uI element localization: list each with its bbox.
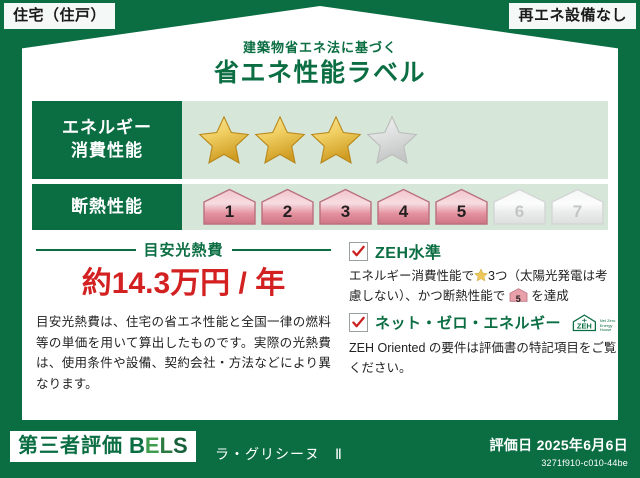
grade-badge-6: 6 xyxy=(492,188,547,226)
cost-heading-text: 目安光熱費 xyxy=(144,239,224,260)
grade-badge-value: 3 xyxy=(341,202,350,226)
footer-bar: 第三者評価 BELS ラ・グリシーヌ Ⅱ 評価日 2025年6月6日 3271f… xyxy=(0,420,640,478)
lower-section: 目安光熱費 約14.3万円 / 年 目安光熱費は、住宅の省エネ性能と全国一律の燃… xyxy=(32,235,608,381)
grade-badge-5: 5 xyxy=(434,188,489,226)
bels-letter-e: E xyxy=(145,433,160,458)
zeh-logo-icon: ZEH Net Zero Energy House xyxy=(571,311,620,335)
energy-performance-label: エネルギー 消費性能 xyxy=(32,101,182,179)
inline-grade-value: 5 xyxy=(516,294,521,304)
insulation-performance-value: 1234567 xyxy=(182,184,608,230)
cost-heading-rule-left xyxy=(36,249,136,251)
star-empty-icon xyxy=(366,114,418,166)
star-rating xyxy=(198,114,418,166)
zeh-netzero-body: ZEH Oriented の要件は評価書の特記項目をご覧ください。 xyxy=(349,338,620,379)
energy-performance-label-line2: 消費性能 xyxy=(62,140,152,163)
zeh-netzero-block: ネット・ゼロ・エネルギー ZEH Net Zero Energy House xyxy=(349,311,620,379)
bels-jp-text: 第三者評価 xyxy=(18,436,123,456)
bels-letter-l: L xyxy=(160,433,173,458)
tag-building-type: 住宅（住戸） xyxy=(4,3,115,29)
grade-badge-4: 4 xyxy=(376,188,431,226)
zeh-logo-subtext: Net Zero Energy House xyxy=(600,319,620,334)
zeh-netzero-title: ネット・ゼロ・エネルギー xyxy=(375,312,561,333)
grade-badge-3: 3 xyxy=(318,188,373,226)
bels-energy-label: 建築物省エネ法に基づく 省エネ性能ラベル 住宅（住戸） 再エネ設備なし エネルギ… xyxy=(0,0,640,478)
grade-scale: 1234567 xyxy=(198,188,605,226)
tag-renewable-equipment: 再エネ設備なし xyxy=(509,3,636,29)
zeh-standard-body-part1: エネルギー消費性能で xyxy=(349,269,474,283)
grade-badge-value: 4 xyxy=(399,202,408,226)
page-title: 省エネ性能ラベル xyxy=(22,58,618,89)
checkbox-checked-icon xyxy=(349,313,368,332)
bels-letter-b: B xyxy=(129,433,145,458)
bels-letter-s: S xyxy=(173,433,188,458)
grade-badge-value: 1 xyxy=(225,202,234,226)
bels-en-text: BELS xyxy=(129,435,188,457)
grade-badge-value: 6 xyxy=(515,202,524,226)
zeh-netzero-heading: ネット・ゼロ・エネルギー ZEH Net Zero Energy House xyxy=(349,311,620,335)
bels-logo: 第三者評価 BELS xyxy=(10,431,196,462)
inline-star-icon xyxy=(474,268,488,282)
cost-value: 約14.3万円 / 年 xyxy=(36,269,331,299)
energy-performance-value xyxy=(182,101,608,179)
zeh-standard-heading: ZEH水準 xyxy=(349,239,620,263)
grade-badge-7: 7 xyxy=(550,188,605,226)
star-filled-icon xyxy=(198,114,250,166)
zeh-standard-title: ZEH水準 xyxy=(375,239,442,263)
zeh-standard-body: エネルギー消費性能で3つ（太陽光発電は考慮しない）、かつ断熱性能で 5 を達成 xyxy=(349,266,620,307)
building-name: ラ・グリシーヌ Ⅱ xyxy=(215,444,343,464)
zeh-column: ZEH水準 エネルギー消費性能で3つ（太陽光発電は考慮しない）、かつ断熱性能で … xyxy=(337,235,622,381)
grade-badge-value: 5 xyxy=(457,202,466,226)
grade-badge-value: 7 xyxy=(573,202,582,226)
star-filled-icon xyxy=(254,114,306,166)
energy-performance-row: エネルギー 消費性能 xyxy=(32,101,608,179)
svg-text:ZEH: ZEH xyxy=(577,321,592,330)
header-subtitle: 建築物省エネ法に基づく xyxy=(22,40,618,56)
zeh-standard-body-part3: を達成 xyxy=(531,289,569,303)
cost-heading: 目安光熱費 xyxy=(36,239,331,260)
evaluation-date: 評価日 2025年6月6日 xyxy=(489,435,628,455)
grade-badge-1: 1 xyxy=(202,188,257,226)
energy-performance-label-line1: エネルギー xyxy=(62,117,152,140)
zeh-standard-block: ZEH水準 エネルギー消費性能で3つ（太陽光発電は考慮しない）、かつ断熱性能で … xyxy=(349,239,620,307)
cost-heading-rule-right xyxy=(232,249,332,251)
grade-badge-value: 2 xyxy=(283,202,292,226)
zeh-logo-subtext-line2: Energy House xyxy=(600,323,613,332)
star-filled-icon xyxy=(310,114,362,166)
evaluation-id: 3271f910-c010-44be xyxy=(489,458,628,468)
cost-column: 目安光熱費 約14.3万円 / 年 目安光熱費は、住宅の省エネ性能と全国一律の燃… xyxy=(32,235,337,381)
header-titles: 建築物省エネ法に基づく 省エネ性能ラベル xyxy=(22,40,618,89)
checkbox-checked-icon xyxy=(349,242,368,261)
inline-grade-badge: 5 xyxy=(509,288,528,302)
grade-badge-2: 2 xyxy=(260,188,315,226)
insulation-performance-label: 断熱性能 xyxy=(32,184,182,230)
cost-note: 目安光熱費は、住宅の省エネ性能と全国一律の燃料等の単価を用いて算出したものです。… xyxy=(36,312,331,395)
insulation-performance-row: 断熱性能 1234567 xyxy=(32,184,608,230)
evaluation-info: 評価日 2025年6月6日 3271f910-c010-44be xyxy=(489,435,628,468)
main-panel: エネルギー 消費性能 断熱性能 1234567 目安光熱費 xyxy=(22,93,618,420)
